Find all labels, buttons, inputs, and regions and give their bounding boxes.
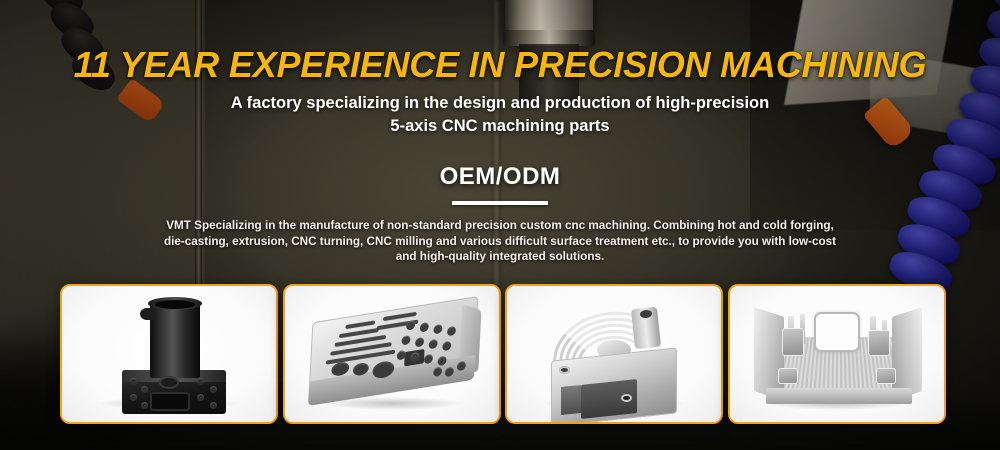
aluminum-finned-heat-sink-housing-image [537, 302, 695, 412]
service-label-wrap: OEM/ODM [0, 163, 1000, 205]
housing-hole [197, 378, 204, 385]
chassis-right-wall [892, 307, 922, 401]
product-card-3[interactable] [505, 284, 723, 424]
product-gallery [60, 284, 946, 420]
product-card-2[interactable] [283, 284, 501, 424]
housing-tube-bore [155, 300, 195, 309]
product-card-4[interactable] [728, 284, 946, 424]
product-card-1[interactable] [60, 284, 278, 424]
chassis-square-cutout [814, 312, 860, 352]
banner-content: 11 YEAR EXPERIENCE IN PRECISION MACHININ… [0, 0, 1000, 450]
chassis-pocket [778, 368, 798, 384]
housing-hole [141, 386, 148, 393]
housing-mounting-ear [140, 308, 154, 320]
machined-aluminum-chassis-image [752, 306, 924, 402]
description-text: VMT Specializing in the manufacture of n… [160, 218, 840, 265]
subheading-line-1: A factory specializing in the design and… [150, 92, 850, 115]
housing-hole [141, 402, 148, 409]
page-title: 11 YEAR EXPERIENCE IN PRECISION MACHININ… [0, 44, 1000, 86]
chassis-pocket [782, 328, 804, 356]
housing-hole [210, 386, 217, 393]
subheading: A factory specializing in the design and… [150, 92, 850, 138]
housing-hole [197, 394, 204, 401]
precision-machining-banner: 11 YEAR EXPERIENCE IN PRECISION MACHININ… [0, 0, 1000, 450]
chassis-front-wall [766, 388, 912, 404]
subheading-line-2: 5-axis CNC machining parts [150, 115, 850, 138]
service-label: OEM/ODM [440, 163, 561, 191]
housing-window-cutout [150, 392, 190, 411]
housing-hole [210, 402, 217, 409]
service-label-underline [452, 201, 548, 205]
chassis-left-wall [754, 307, 784, 401]
housing-tube [150, 300, 200, 378]
heatsink-cavity-side [561, 385, 581, 415]
chassis-pocket [868, 330, 890, 356]
housing-hole [130, 378, 137, 385]
housing-circular-recess [159, 376, 179, 389]
housing-hole [130, 394, 137, 401]
chassis-pocket [876, 368, 896, 384]
